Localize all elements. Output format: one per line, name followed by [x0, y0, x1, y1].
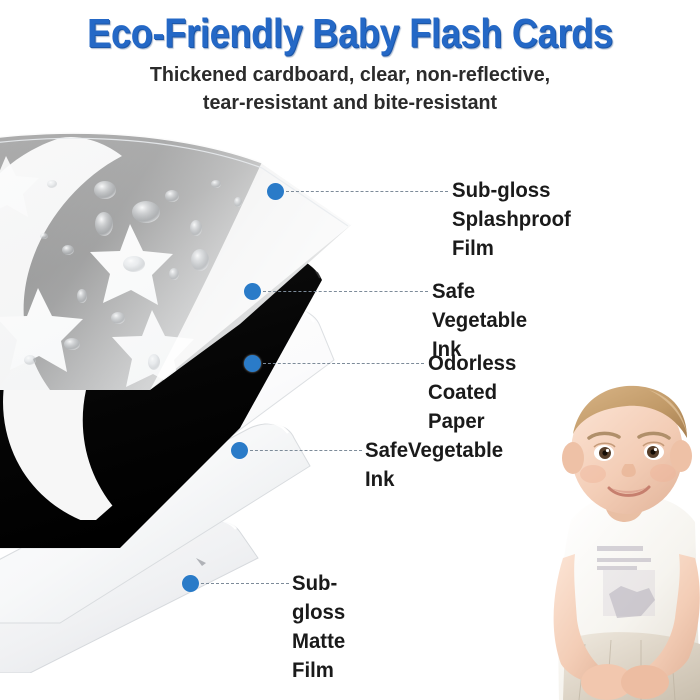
callout-connector-line	[263, 363, 424, 364]
page-title: Eco-Friendly Baby Flash Cards	[42, 10, 658, 56]
baby-photo	[545, 382, 700, 700]
callout-label: Sub-gloss Matte Film	[292, 569, 345, 685]
callout-dot[interactable]	[244, 355, 261, 372]
callout-connector-line	[286, 191, 448, 192]
callout-dot[interactable]	[182, 575, 199, 592]
subtitle-line-1: Thickened cardboard, clear, non-reflecti…	[14, 61, 686, 89]
callout-connector-line	[201, 583, 289, 584]
callout-connector-line	[250, 450, 362, 451]
callout-label: Sub-gloss Splashproof Film	[452, 176, 571, 263]
header: Eco-Friendly Baby Flash Cards Thickened …	[0, 0, 700, 130]
callout-label: Odorless Coated Paper	[428, 349, 516, 436]
subtitle: Thickened cardboard, clear, non-reflecti…	[14, 61, 686, 117]
callout-connector-line	[263, 291, 428, 292]
callout-dot[interactable]	[244, 283, 261, 300]
subtitle-line-2: tear-resistant and bite-resistant	[14, 89, 686, 117]
callout-dot[interactable]	[267, 183, 284, 200]
callout-dot[interactable]	[231, 442, 248, 459]
product-infographic: Eco-Friendly Baby Flash Cards Thickened …	[0, 0, 700, 700]
callout-label: SafeVegetable Ink	[365, 436, 503, 494]
